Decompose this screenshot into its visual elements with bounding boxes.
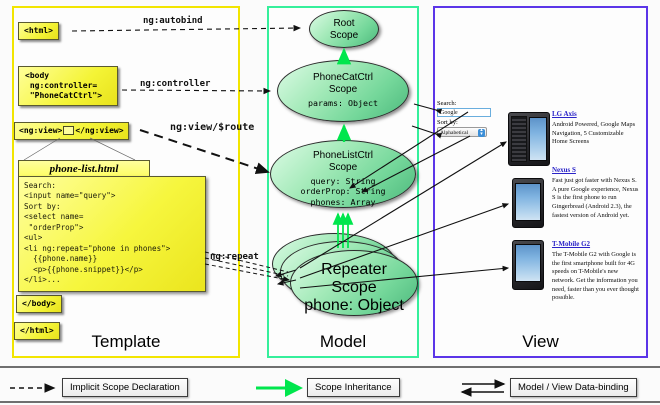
scope-repeater-front: Repeater Scope phone: Object bbox=[290, 250, 418, 316]
phone-entry-2: T-Mobile G2 The T-Mobile G2 with Google … bbox=[552, 240, 640, 303]
scope-phonecatctrl-props: params: Object bbox=[278, 98, 408, 108]
diagram-canvas: Template Model View <html> <body ng:cont… bbox=[0, 0, 660, 405]
scope-root-title: Root Scope bbox=[310, 18, 378, 41]
scope-phonelistctrl: PhoneListCtrl Scope query: String orderP… bbox=[270, 140, 416, 208]
phone-thumb-0 bbox=[508, 112, 552, 168]
search-label: Search: bbox=[437, 100, 491, 107]
chevron-down-icon: ▴▾ bbox=[478, 129, 485, 137]
phone-list-note: phone-list.html Search: <input name="que… bbox=[18, 160, 206, 292]
scope-phonecatctrl-title: PhoneCatCtrl Scope bbox=[278, 72, 408, 95]
phone-name-link-1[interactable]: Nexus S bbox=[552, 166, 640, 174]
code-tag-ngview: <ng:view></ng:view> bbox=[14, 122, 129, 140]
wire-label-autobind: ng:autobind bbox=[143, 16, 203, 26]
phone-entry-0: LG Axis Android Powered, Google Maps Nav… bbox=[552, 110, 640, 147]
phone-name-link-0[interactable]: LG Axis bbox=[552, 110, 640, 118]
phone-snippet-1: Fast just got faster with Nexus S. A pur… bbox=[552, 177, 640, 220]
legend-top-rule bbox=[0, 366, 660, 368]
legend-label-implicit-scope-declaration: Implicit Scope Declaration bbox=[62, 378, 188, 397]
search-input[interactable]: Google bbox=[437, 108, 491, 117]
wire-label-ngrepeat: ng:repeat bbox=[210, 252, 259, 262]
scope-repeater-title: Repeater Scope bbox=[291, 261, 417, 297]
ngview-close-label: </ng:view> bbox=[75, 126, 123, 135]
sort-label: Sort by: bbox=[437, 119, 491, 126]
phone-screen-2 bbox=[515, 244, 541, 282]
ngview-placeholder-icon bbox=[63, 126, 74, 135]
phone-keyboard-0 bbox=[511, 116, 527, 162]
phone-name-link-2[interactable]: T-Mobile G2 bbox=[552, 240, 640, 248]
code-tag-html-close: </html> bbox=[14, 322, 60, 340]
panel-view-title: View bbox=[435, 332, 646, 352]
phone-list-note-code: Search: <input name="query"> Sort by: <s… bbox=[18, 176, 206, 292]
scope-repeater-stack: Repeater Scope phone: Object bbox=[272, 233, 420, 325]
wire-label-controller: ng:controller bbox=[140, 79, 210, 89]
code-tag-body-close: </body> bbox=[16, 295, 62, 313]
legend-label-scope-inheritance: Scope Inheritance bbox=[307, 378, 400, 397]
phone-snippet-2: The T-Mobile G2 with Google is the first… bbox=[552, 251, 640, 303]
phone-entry-1: Nexus S Fast just got faster with Nexus … bbox=[552, 166, 640, 220]
phone-screen-1 bbox=[515, 183, 541, 221]
phone-thumb-2 bbox=[512, 240, 546, 292]
legend: Implicit Scope Declaration Scope Inherit… bbox=[0, 370, 660, 405]
scope-repeater-props: phone: Object bbox=[291, 297, 417, 315]
panel-model-title: Model bbox=[269, 332, 417, 352]
phone-screen-0 bbox=[529, 117, 547, 161]
scope-phonecatctrl: PhoneCatCtrl Scope params: Object bbox=[277, 60, 409, 122]
sort-select-value: Alphabetical bbox=[440, 130, 468, 136]
scope-phonelistctrl-title: PhoneListCtrl Scope bbox=[271, 150, 415, 173]
scope-phonelistctrl-props: query: String orderProp: String phones: … bbox=[271, 176, 415, 207]
wire-label-ngview: ng:view/$route bbox=[170, 122, 254, 133]
code-tag-body-open: <body ng:controller= "PhoneCatCtrl"> bbox=[18, 66, 118, 106]
sort-select[interactable]: Alphabetical▴▾ bbox=[437, 127, 487, 137]
view-search-form: Search: Google Sort by: Alphabetical▴▾ bbox=[437, 100, 491, 137]
code-tag-html-open: <html> bbox=[18, 22, 59, 40]
legend-label-data-binding: Model / View Data-binding bbox=[510, 378, 637, 397]
scope-root: Root Scope bbox=[309, 10, 379, 48]
ngview-open-label: <ng:view> bbox=[19, 126, 62, 135]
phone-snippet-0: Android Powered, Google Maps Navigation,… bbox=[552, 121, 640, 147]
phone-thumb-1 bbox=[512, 178, 546, 230]
phone-list-note-title: phone-list.html bbox=[18, 160, 150, 176]
